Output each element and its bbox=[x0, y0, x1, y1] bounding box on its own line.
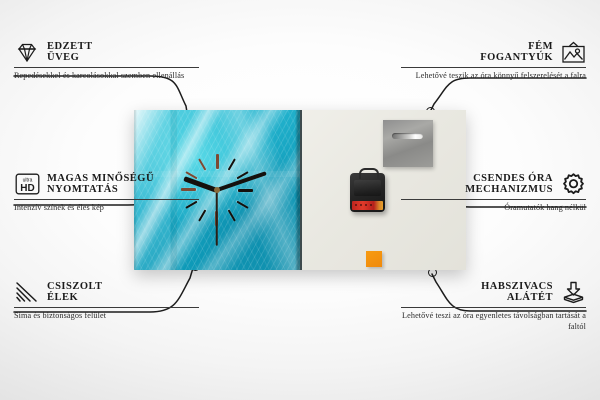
hanger-slot bbox=[392, 133, 423, 139]
metal-hanger-plate bbox=[383, 120, 433, 167]
callout-header: CSENDES ÓRA MECHANIZMUS bbox=[401, 172, 586, 199]
callout-header: CSISZOLT ÉLEK bbox=[14, 280, 199, 307]
hanging-picture-icon bbox=[560, 40, 586, 64]
callout-title-line1: CSENDES ÓRA bbox=[473, 173, 553, 184]
arrow-onto-pad-icon bbox=[560, 280, 586, 304]
foam-pad bbox=[366, 251, 382, 267]
callout-silent-mechanism: CSENDES ÓRA MECHANIZMUS Óramutatók hang … bbox=[401, 172, 586, 214]
callout-titles: EDZETT ÜVEG bbox=[47, 41, 93, 63]
callout-header: ultra HD MAGAS MINŐSÉGŰ NYOMTATÁS bbox=[14, 172, 199, 199]
callout-title-line1: FÉM bbox=[528, 41, 553, 52]
callout-description: Óramutatók hang nélkül bbox=[401, 200, 586, 214]
callout-description: Lehetővé teszik az óra könnyű felszerelé… bbox=[401, 68, 586, 82]
callout-high-quality-print: ultra HD MAGAS MINŐSÉGŰ NYOMTATÁS Intenz… bbox=[14, 172, 199, 214]
gear-icon bbox=[560, 172, 586, 196]
callout-polished-edges: CSISZOLT ÉLEK Sima és biztonságos felüle… bbox=[14, 280, 199, 322]
battery bbox=[352, 201, 383, 210]
callout-titles: HABSZIVACS ALÁTÉT bbox=[481, 281, 553, 303]
callout-title-line2: ÉLEK bbox=[47, 292, 103, 303]
mechanism-hook bbox=[359, 168, 379, 179]
callout-header: FÉM FOGANTYÚK bbox=[401, 40, 586, 67]
polished-edge-icon bbox=[14, 280, 40, 304]
clock-second-hand bbox=[216, 190, 218, 246]
callout-metal-handles: FÉM FOGANTYÚK Lehetővé teszik az óra kön… bbox=[401, 40, 586, 82]
diamond-icon bbox=[14, 40, 40, 64]
callout-header: HABSZIVACS ALÁTÉT bbox=[401, 280, 586, 307]
callout-titles: CSISZOLT ÉLEK bbox=[47, 281, 103, 303]
callout-tempered-glass: EDZETT ÜVEG Repedésekkel és karcolásokka… bbox=[14, 40, 199, 82]
infographic-canvas: EDZETT ÜVEG Repedésekkel és karcolásokka… bbox=[0, 0, 600, 400]
callout-foam-underlay: HABSZIVACS ALÁTÉT Lehetővé teszi az óra … bbox=[401, 280, 586, 333]
callout-header: EDZETT ÜVEG bbox=[14, 40, 199, 67]
callout-titles: CSENDES ÓRA MECHANIZMUS bbox=[465, 173, 553, 195]
ultra-hd-icon: ultra HD bbox=[14, 172, 40, 196]
callout-description: Repedésekkel és karcolásokkal szemben el… bbox=[14, 68, 199, 82]
callout-title-line2: ÜVEG bbox=[47, 52, 93, 63]
callout-title-line1: MAGAS MINŐSÉGŰ bbox=[47, 173, 154, 184]
callout-description: Intenzív színek és éles kép bbox=[14, 200, 199, 214]
leader-line-metal-handles bbox=[430, 78, 586, 112]
quartz-mechanism bbox=[350, 173, 385, 212]
callout-description: Lehetővé teszi az óra egyenletes távolsá… bbox=[401, 308, 586, 333]
callout-title-line1: EDZETT bbox=[47, 41, 93, 52]
callout-title-line2: MECHANIZMUS bbox=[465, 184, 553, 195]
callout-title-line2: ALÁTÉT bbox=[507, 292, 553, 303]
svg-text:HD: HD bbox=[20, 183, 34, 194]
callout-description: Sima és biztonságos felület bbox=[14, 308, 199, 322]
clock-center-cap bbox=[214, 187, 220, 193]
callout-title-line2: NYOMTATÁS bbox=[47, 184, 154, 195]
mechanism-body bbox=[354, 180, 381, 196]
callout-title-line1: HABSZIVACS bbox=[481, 281, 553, 292]
callout-titles: MAGAS MINŐSÉGŰ NYOMTATÁS bbox=[47, 173, 154, 195]
callout-title-line1: CSISZOLT bbox=[47, 281, 103, 292]
callout-title-line2: FOGANTYÚK bbox=[480, 52, 553, 63]
callout-titles: FÉM FOGANTYÚK bbox=[480, 41, 553, 63]
